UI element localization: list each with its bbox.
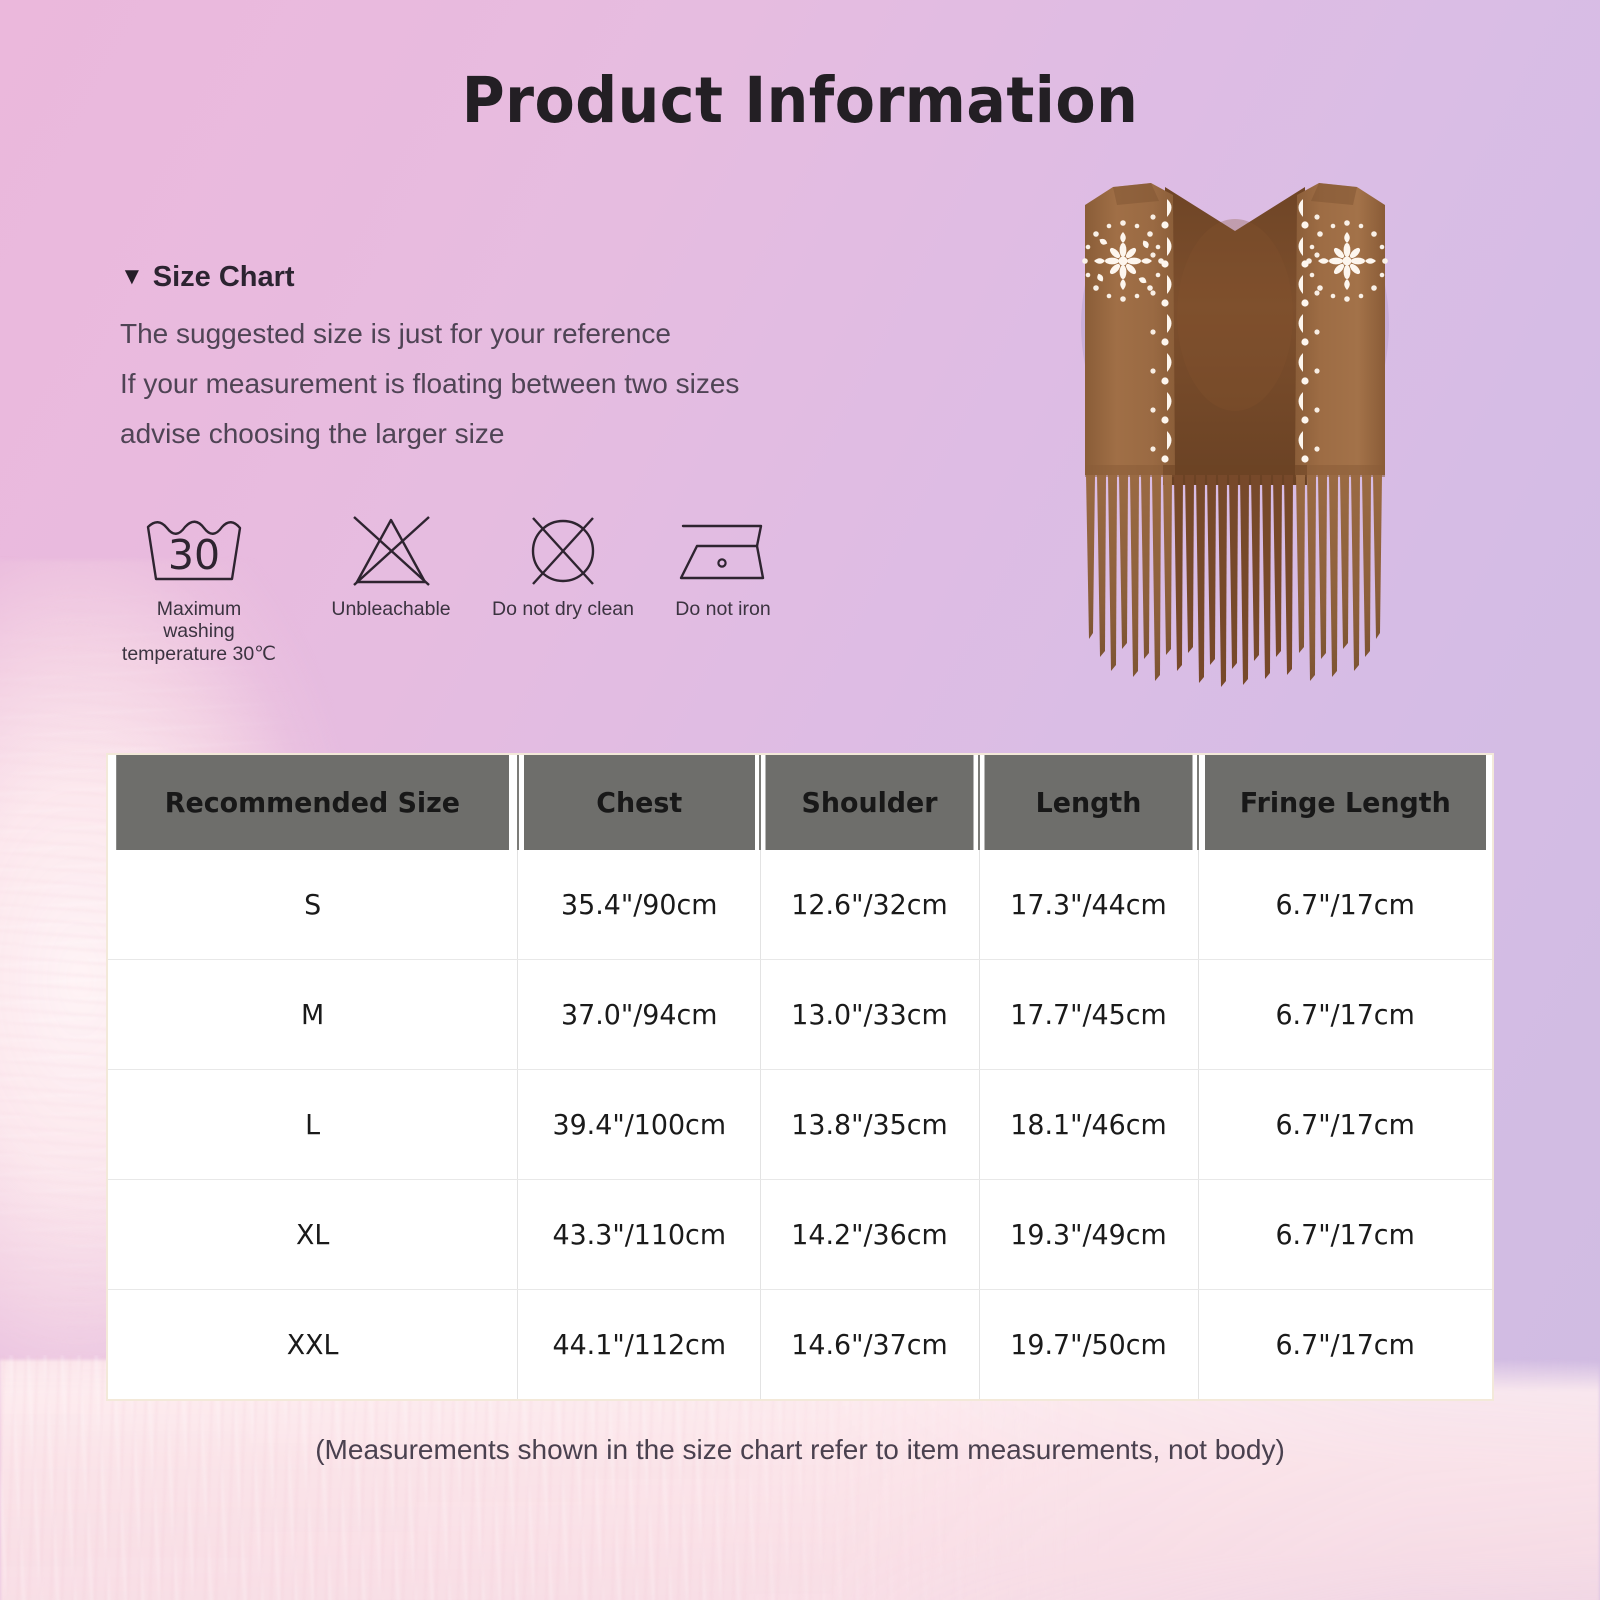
- product-image-fringed-suede-vest: [1055, 165, 1415, 695]
- table-cell-length: 19.3"/49cm: [984, 1180, 1194, 1290]
- table-cell-shoulder: 13.8"/35cm: [765, 1070, 975, 1180]
- table-cell-length: 17.7"/45cm: [984, 960, 1194, 1070]
- care-symbol-item: Do not dry clean: [483, 512, 643, 620]
- care-symbol-item: 30 Maximum washing temperature 30℃: [119, 512, 279, 665]
- crossed-circle-icon: [483, 512, 643, 590]
- care-symbol-label: Maximum washing temperature 30℃: [119, 598, 279, 665]
- table-cell-size: XL: [116, 1180, 509, 1290]
- table-row: XXL 44.1"/112cm 14.6"/37cm 19.7"/50cm 6.…: [108, 1290, 1492, 1400]
- table-cell-chest: 37.0"/94cm: [523, 960, 756, 1070]
- crossed-triangle-icon: [311, 512, 471, 590]
- crossed-iron-icon: [643, 512, 803, 590]
- page-title: Product Information: [56, 64, 1544, 137]
- size-chart-heading: ▼ Size Chart: [120, 261, 295, 294]
- table-header-cell: Chest: [523, 755, 756, 850]
- size-chart-table: Recommended Size Chest Shoulder Length F…: [108, 755, 1492, 1399]
- care-symbol-item: Do not iron: [643, 512, 803, 620]
- table-cell-fringe-length: 6.7"/17cm: [1204, 850, 1486, 960]
- table-cell-chest: 39.4"/100cm: [523, 1070, 756, 1180]
- table-row: M 37.0"/94cm 13.0"/33cm 17.7"/45cm 6.7"/…: [108, 960, 1492, 1070]
- table-cell-fringe-length: 6.7"/17cm: [1204, 1180, 1486, 1290]
- care-symbols-row: 30 Maximum washing temperature 30℃ Unble…: [113, 512, 773, 652]
- table-cell-length: 17.3"/44cm: [984, 850, 1194, 960]
- fringe: [1086, 475, 1382, 687]
- table-cell-length: 19.7"/50cm: [984, 1290, 1194, 1400]
- size-chart-heading-label: Size Chart: [153, 261, 295, 294]
- triangle-down-icon: ▼: [120, 265, 144, 289]
- table-header-cell: Length: [984, 755, 1194, 850]
- size-note-line: advise choosing the larger size: [120, 418, 504, 450]
- table-header-cell: Fringe Length: [1204, 755, 1486, 850]
- care-symbol-label: Do not dry clean: [483, 598, 643, 620]
- table-cell-fringe-length: 6.7"/17cm: [1204, 1290, 1486, 1400]
- table-cell-size: L: [116, 1070, 509, 1180]
- svg-text:30: 30: [168, 531, 220, 579]
- table-cell-fringe-length: 6.7"/17cm: [1204, 1070, 1486, 1180]
- measurement-footnote: (Measurements shown in the size chart re…: [0, 1434, 1600, 1466]
- product-information-page: Product Information ▼ Size Chart The sug…: [0, 0, 1600, 1600]
- table-cell-size: S: [116, 850, 509, 960]
- table-cell-shoulder: 12.6"/32cm: [765, 850, 975, 960]
- table-header-row: Recommended Size Chest Shoulder Length F…: [108, 755, 1492, 850]
- table-row: XL 43.3"/110cm 14.2"/36cm 19.3"/49cm 6.7…: [108, 1180, 1492, 1290]
- wash-tub-30-icon: 30: [119, 512, 279, 590]
- care-symbol-label: Do not iron: [643, 598, 803, 620]
- table-header-cell: Recommended Size: [116, 755, 509, 850]
- table-cell-size: XXL: [116, 1290, 509, 1400]
- table-cell-chest: 44.1"/112cm: [523, 1290, 756, 1400]
- size-note-line: The suggested size is just for your refe…: [120, 318, 671, 350]
- table-cell-shoulder: 13.0"/33cm: [765, 960, 975, 1070]
- table-cell-chest: 35.4"/90cm: [523, 850, 756, 960]
- table-cell-shoulder: 14.6"/37cm: [765, 1290, 975, 1400]
- table-header-cell: Shoulder: [765, 755, 975, 850]
- table-row: L 39.4"/100cm 13.8"/35cm 18.1"/46cm 6.7"…: [108, 1070, 1492, 1180]
- care-symbol-label: Unbleachable: [311, 598, 471, 620]
- table-cell-fringe-length: 6.7"/17cm: [1204, 960, 1486, 1070]
- table-cell-size: M: [116, 960, 509, 1070]
- table-row: S 35.4"/90cm 12.6"/32cm 17.3"/44cm 6.7"/…: [108, 850, 1492, 960]
- size-note-line: If your measurement is floating between …: [120, 368, 739, 400]
- table-cell-chest: 43.3"/110cm: [523, 1180, 756, 1290]
- table-cell-length: 18.1"/46cm: [984, 1070, 1194, 1180]
- table-cell-shoulder: 14.2"/36cm: [765, 1180, 975, 1290]
- care-symbol-item: Unbleachable: [311, 512, 471, 620]
